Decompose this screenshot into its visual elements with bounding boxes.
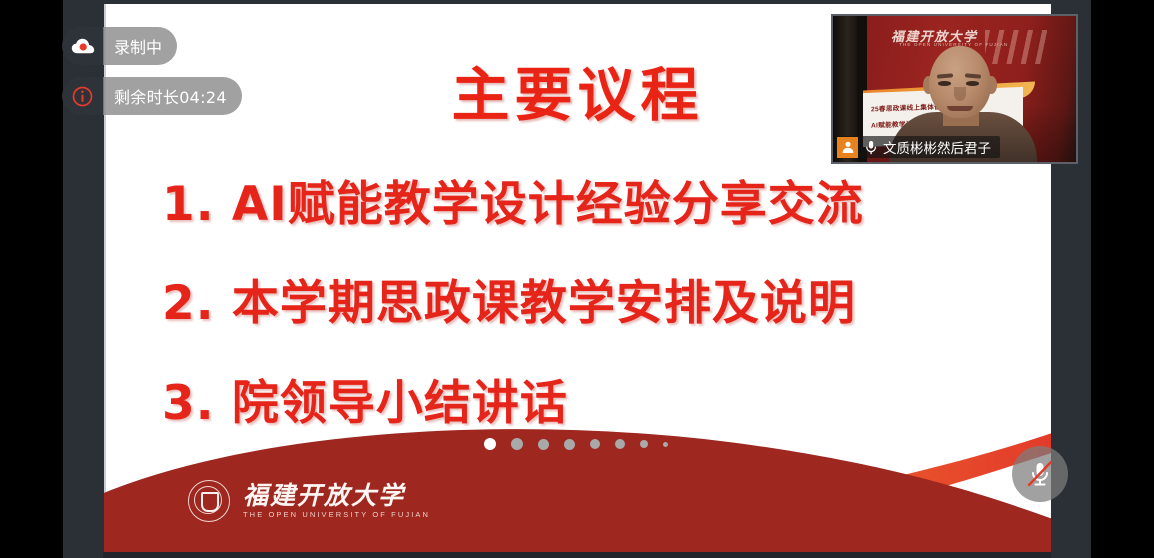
university-logo-text: 福建开放大学 THE OPEN UNIVERSITY OF FUJIAN [243, 483, 430, 519]
video-person-eye-left [938, 81, 951, 86]
video-bg-light-streaks [985, 30, 1047, 64]
slide-university-logo: 福建开放大学 THE OPEN UNIVERSITY OF FUJIAN [188, 480, 430, 522]
pager-dot[interactable] [538, 439, 549, 450]
pager-dot[interactable] [590, 439, 600, 449]
cloud-record-icon [62, 27, 103, 65]
participant-name-tag: 文质彬彬然后君子 [837, 136, 1000, 158]
university-name-cn: 福建开放大学 [243, 483, 430, 508]
slide-wave-decoration [104, 402, 1051, 552]
pager-dot[interactable] [564, 439, 575, 450]
agenda-item-1: 1. AI赋能教学设计经验分享交流 [162, 180, 1042, 229]
pager-dot[interactable] [663, 442, 668, 447]
university-name-en: THE OPEN UNIVERSITY OF FUJIAN [243, 511, 430, 519]
microphone-icon [865, 140, 877, 155]
chrome-bottom-strip [103, 552, 1051, 558]
pager-dot[interactable] [511, 438, 523, 450]
recording-status-pill[interactable]: 录制中 [62, 27, 177, 65]
pager-dot[interactable] [640, 440, 648, 448]
recording-status-label: 录制中 [103, 27, 177, 65]
person-avatar-icon [837, 137, 858, 158]
university-seal-icon [188, 480, 230, 522]
video-person-nose [954, 87, 966, 101]
video-person-eye-right [966, 81, 979, 86]
pager-dot[interactable] [484, 438, 496, 450]
meeting-screen-share-view: 主要议程 1. AI赋能教学设计经验分享交流 2. 本学期思政课教学安排及说明 … [0, 0, 1154, 558]
agenda-item-2: 2. 本学期思政课教学安排及说明 [162, 279, 1042, 328]
microphone-muted-button[interactable] [1012, 446, 1068, 502]
participant-video-tile[interactable]: 福建开放大学 THE OPEN UNIVERSITY OF FUJIAN 25春… [831, 14, 1078, 164]
remaining-time-label: 剩余时长04:24 [103, 77, 242, 115]
pager-dot[interactable] [615, 439, 625, 449]
remaining-time-pill[interactable]: 剩余时长04:24 [62, 77, 242, 115]
slide-pager-dots[interactable] [484, 438, 668, 450]
participant-name-label: 文质彬彬然后君子 [883, 137, 991, 157]
info-circle-icon [62, 77, 103, 115]
microphone-muted-icon [1023, 457, 1057, 491]
video-person-mouth [947, 106, 973, 111]
